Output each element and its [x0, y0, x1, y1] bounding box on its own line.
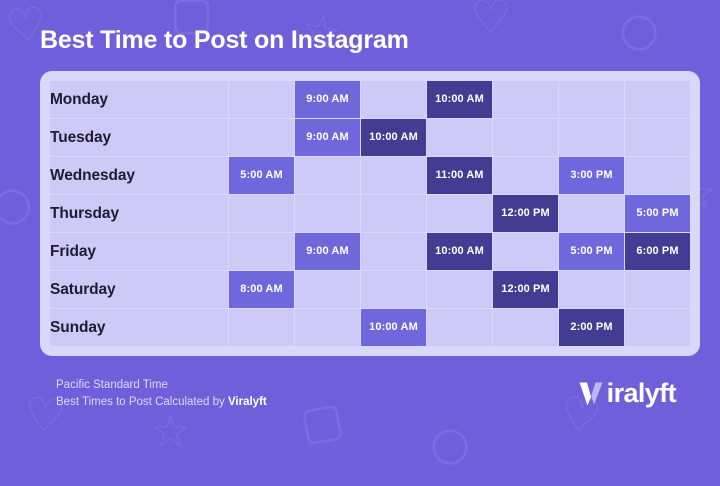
time-slot-cell[interactable] [427, 195, 492, 232]
time-slot-empty [625, 271, 690, 308]
time-slot-chip: 5:00 PM [625, 195, 690, 232]
schedule-table: Monday9:00 AM10:00 AMTuesday9:00 AM10:00… [49, 80, 691, 347]
time-slot-empty [229, 309, 294, 346]
time-slot-chip: 12:00 PM [493, 271, 558, 308]
time-slot-cell[interactable] [295, 157, 360, 194]
day-label-sunday: Sunday [50, 309, 228, 346]
time-slot-cell[interactable] [559, 195, 624, 232]
table-row: Friday9:00 AM10:00 AM5:00 PM6:00 PM [50, 233, 690, 270]
time-slot-cell[interactable]: 9:00 AM [295, 81, 360, 118]
time-slot-empty [625, 309, 690, 346]
table-row: Monday9:00 AM10:00 AM [50, 81, 690, 118]
time-slot-cell[interactable]: 10:00 AM [361, 309, 426, 346]
time-slot-empty [427, 195, 492, 232]
time-slot-cell[interactable] [361, 157, 426, 194]
brand-wordmark: iralyft [607, 378, 676, 409]
time-slot-empty [493, 233, 558, 270]
time-slot-cell[interactable]: 3:00 PM [559, 157, 624, 194]
time-slot-cell[interactable] [295, 309, 360, 346]
time-slot-empty [361, 81, 426, 118]
time-slot-cell[interactable]: 5:00 PM [625, 195, 690, 232]
time-slot-empty [559, 195, 624, 232]
time-slot-cell[interactable] [229, 233, 294, 270]
footer-credit-prefix: Best Times to Post Calculated by [56, 396, 228, 408]
time-slot-chip: 10:00 AM [427, 81, 492, 118]
time-slot-chip: 12:00 PM [493, 195, 558, 232]
time-slot-cell[interactable] [493, 309, 558, 346]
footer-text-block: Pacific Standard Time Best Times to Post… [56, 377, 267, 410]
time-slot-empty [361, 271, 426, 308]
time-slot-chip: 11:00 AM [427, 157, 492, 194]
time-slot-cell[interactable]: 11:00 AM [427, 157, 492, 194]
time-slot-empty [361, 195, 426, 232]
time-slot-empty [427, 271, 492, 308]
footer-credit: Best Times to Post Calculated by Viralyf… [56, 394, 267, 411]
time-slot-cell[interactable] [625, 309, 690, 346]
time-slot-empty [559, 81, 624, 118]
v-logo-mark-icon [578, 380, 604, 407]
time-slot-cell[interactable] [625, 271, 690, 308]
day-label-tuesday: Tuesday [50, 119, 228, 156]
time-slot-cell[interactable] [427, 119, 492, 156]
brand-logo[interactable]: iralyft [578, 378, 676, 409]
time-slot-chip: 3:00 PM [559, 157, 624, 194]
time-slot-cell[interactable]: 8:00 AM [229, 271, 294, 308]
time-slot-empty [427, 309, 492, 346]
time-slot-empty [295, 309, 360, 346]
time-slot-cell[interactable]: 9:00 AM [295, 119, 360, 156]
time-slot-cell[interactable]: 12:00 PM [493, 271, 558, 308]
time-slot-empty [229, 81, 294, 118]
time-slot-empty [493, 157, 558, 194]
time-slot-cell[interactable] [625, 157, 690, 194]
day-label-monday: Monday [50, 81, 228, 118]
time-slot-cell[interactable]: 10:00 AM [361, 119, 426, 156]
time-slot-empty [559, 271, 624, 308]
time-slot-empty [625, 157, 690, 194]
time-slot-cell[interactable] [229, 309, 294, 346]
time-slot-cell[interactable]: 5:00 AM [229, 157, 294, 194]
time-slot-cell[interactable] [493, 157, 558, 194]
time-slot-cell[interactable] [493, 119, 558, 156]
time-slot-chip: 9:00 AM [295, 233, 360, 270]
time-slot-empty [493, 119, 558, 156]
time-slot-cell[interactable]: 9:00 AM [295, 233, 360, 270]
schedule-card: Monday9:00 AM10:00 AMTuesday9:00 AM10:00… [40, 71, 700, 356]
table-row: Sunday10:00 AM2:00 PM [50, 309, 690, 346]
time-slot-chip: 5:00 AM [229, 157, 294, 194]
time-slot-cell[interactable] [427, 271, 492, 308]
day-label-friday: Friday [50, 233, 228, 270]
time-slot-chip: 9:00 AM [295, 81, 360, 118]
time-slot-cell[interactable] [229, 81, 294, 118]
table-row: Tuesday9:00 AM10:00 AM [50, 119, 690, 156]
time-slot-empty [427, 119, 492, 156]
footer-credit-brand: Viralyft [228, 396, 267, 408]
time-slot-cell[interactable] [493, 233, 558, 270]
time-slot-empty [295, 195, 360, 232]
time-slot-empty [295, 157, 360, 194]
table-row: Saturday8:00 AM12:00 PM [50, 271, 690, 308]
time-slot-cell[interactable] [559, 119, 624, 156]
time-slot-cell[interactable]: 2:00 PM [559, 309, 624, 346]
time-slot-cell[interactable] [361, 233, 426, 270]
time-slot-chip: 6:00 PM [625, 233, 690, 270]
time-slot-empty [361, 233, 426, 270]
time-slot-empty [229, 119, 294, 156]
page-title: Best Time to Post on Instagram [40, 26, 690, 55]
time-slot-empty [625, 81, 690, 118]
time-slot-empty [229, 195, 294, 232]
time-slot-empty [361, 157, 426, 194]
time-slot-cell[interactable] [295, 195, 360, 232]
footer-timezone: Pacific Standard Time [56, 377, 267, 394]
time-slot-chip: 8:00 AM [229, 271, 294, 308]
day-label-thursday: Thursday [50, 195, 228, 232]
time-slot-empty [295, 271, 360, 308]
time-slot-cell[interactable] [559, 271, 624, 308]
time-slot-cell[interactable] [229, 195, 294, 232]
time-slot-chip: 5:00 PM [559, 233, 624, 270]
time-slot-chip: 10:00 AM [361, 119, 426, 156]
time-slot-cell[interactable] [559, 81, 624, 118]
time-slot-cell[interactable] [229, 119, 294, 156]
time-slot-cell[interactable] [361, 195, 426, 232]
time-slot-cell[interactable] [625, 81, 690, 118]
time-slot-empty [625, 119, 690, 156]
time-slot-empty [229, 233, 294, 270]
time-slot-empty [493, 81, 558, 118]
table-row: Wednesday5:00 AM11:00 AM3:00 PM [50, 157, 690, 194]
time-slot-cell[interactable]: 5:00 PM [559, 233, 624, 270]
time-slot-cell[interactable] [295, 271, 360, 308]
time-slot-chip: 2:00 PM [559, 309, 624, 346]
day-label-wednesday: Wednesday [50, 157, 228, 194]
time-slot-empty [493, 309, 558, 346]
time-slot-cell[interactable]: 10:00 AM [427, 233, 492, 270]
footer: Pacific Standard Time Best Times to Post… [40, 356, 690, 410]
time-slot-cell[interactable]: 6:00 PM [625, 233, 690, 270]
time-slot-chip: 10:00 AM [361, 309, 426, 346]
time-slot-chip: 9:00 AM [295, 119, 360, 156]
time-slot-cell[interactable] [625, 119, 690, 156]
time-slot-cell[interactable]: 10:00 AM [427, 81, 492, 118]
day-label-saturday: Saturday [50, 271, 228, 308]
schedule-table-body: Monday9:00 AM10:00 AMTuesday9:00 AM10:00… [50, 81, 690, 346]
time-slot-cell[interactable]: 12:00 PM [493, 195, 558, 232]
time-slot-cell[interactable] [427, 309, 492, 346]
table-row: Thursday12:00 PM5:00 PM [50, 195, 690, 232]
time-slot-chip: 10:00 AM [427, 233, 492, 270]
time-slot-cell[interactable] [361, 81, 426, 118]
time-slot-cell[interactable] [361, 271, 426, 308]
time-slot-empty [559, 119, 624, 156]
infographic-page: Best Time to Post on Instagram Monday9:0… [0, 0, 720, 486]
time-slot-cell[interactable] [493, 81, 558, 118]
